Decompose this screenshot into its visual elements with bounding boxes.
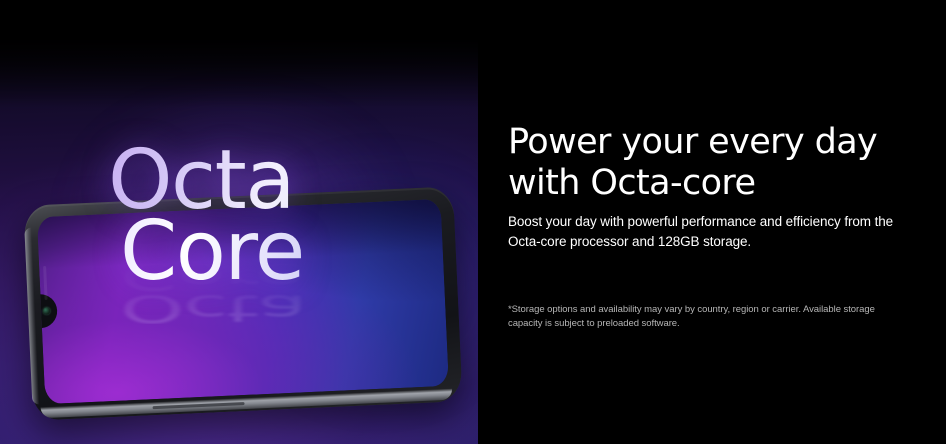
headline-line-2: with Octa-core bbox=[508, 163, 918, 204]
octa-core-promo-banner: Octa Core Octa Core Power your every day… bbox=[0, 0, 946, 444]
legal-disclaimer: *Storage options and availability may va… bbox=[508, 303, 908, 332]
copy-panel: Power your every day with Octa-core Boos… bbox=[478, 0, 946, 444]
earpiece-speaker bbox=[43, 266, 48, 300]
phone-chassis bbox=[23, 186, 462, 420]
phone-device-image bbox=[23, 186, 462, 420]
product-visual-panel: Octa Core Octa Core bbox=[0, 38, 478, 444]
phone-side-rail-left bbox=[24, 228, 39, 405]
phone-display bbox=[37, 199, 449, 404]
phone-notch bbox=[39, 293, 58, 328]
headline-line-1: Power your every day bbox=[508, 122, 918, 163]
front-camera-icon bbox=[43, 307, 50, 314]
screen-vignette bbox=[37, 199, 449, 404]
body-description: Boost your day with powerful performance… bbox=[508, 212, 906, 251]
top-fade-decoration bbox=[0, 38, 478, 108]
page-title: Power your every day with Octa-core bbox=[508, 122, 918, 204]
